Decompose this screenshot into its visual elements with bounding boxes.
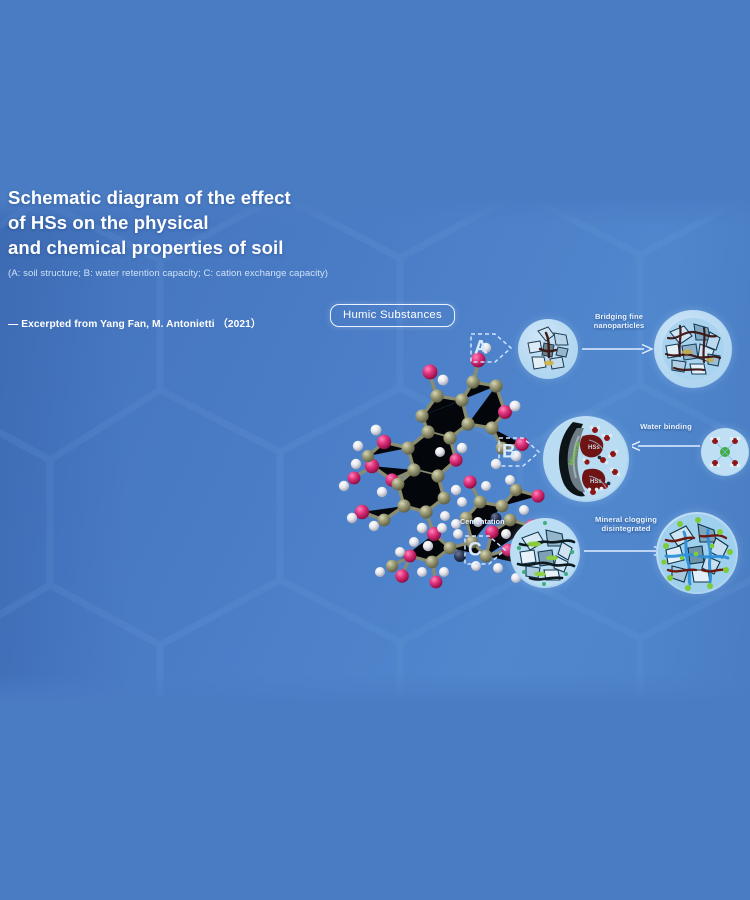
- soil-aggregate-loose-illustration: [518, 319, 578, 379]
- hs-blob-label-2: HSs: [590, 479, 602, 485]
- poster-canvas: Schematic diagram of the effect of HSs o…: [0, 0, 750, 900]
- flow-label-bridging: Bridging fine nanoparticles: [582, 312, 656, 331]
- circle-hydrated-cation: [701, 428, 749, 476]
- flow-label-mineral-clogging: Mineral clogging disintegrated: [584, 515, 668, 534]
- title-line-3: and chemical properties of soil: [8, 236, 338, 261]
- hydrated-cation-illustration: [701, 428, 749, 476]
- clay-hs-water-illustration: Mineral HSs HSs: [543, 416, 629, 502]
- schematic-diagram: Humic Substances: [320, 200, 750, 700]
- arrow-letter-a: A: [474, 339, 488, 358]
- hs-blob-label-1: HSs: [588, 445, 600, 451]
- subtitle-legend: (A: soil structure; B: water retention c…: [8, 267, 338, 280]
- page-title: Schematic diagram of the effect of HSs o…: [8, 186, 338, 260]
- disintegrated-aggregate-illustration: [656, 512, 738, 594]
- title-line-2: of HSs on the physical: [8, 211, 338, 236]
- flow-arrow-a: [582, 343, 654, 355]
- flow-label-water-binding: Water binding: [628, 422, 704, 431]
- cemented-aggregate-illustration: [510, 518, 580, 588]
- arrow-caption-cementation: Cementation: [460, 518, 522, 527]
- attribution-text: — Excerpted from Yang Fan, M. Antonietti…: [8, 315, 338, 330]
- arrow-letter-b: B: [502, 443, 516, 462]
- flow-arrow-c: [584, 545, 666, 557]
- circle-clay-hs-water-complex: Mineral HSs HSs: [543, 416, 629, 502]
- soil-aggregate-bridged-illustration: [654, 310, 732, 388]
- headline-block: Schematic diagram of the effect of HSs o…: [8, 186, 338, 330]
- arrow-letter-c: C: [468, 541, 482, 560]
- title-line-1: Schematic diagram of the effect: [8, 186, 338, 211]
- flow-arrow-b: [632, 440, 700, 452]
- circle-cemented-mineral-aggregate: [510, 518, 580, 588]
- circle-soil-aggregate-loose: [518, 319, 578, 379]
- arrow-chevron-b: B: [496, 432, 542, 472]
- arrow-chevron-c: C: [462, 530, 508, 570]
- circle-soil-aggregate-bridged: [654, 310, 732, 388]
- arrow-chevron-a: A: [468, 328, 514, 368]
- circle-disintegrated-mineral-aggregate: [656, 512, 738, 594]
